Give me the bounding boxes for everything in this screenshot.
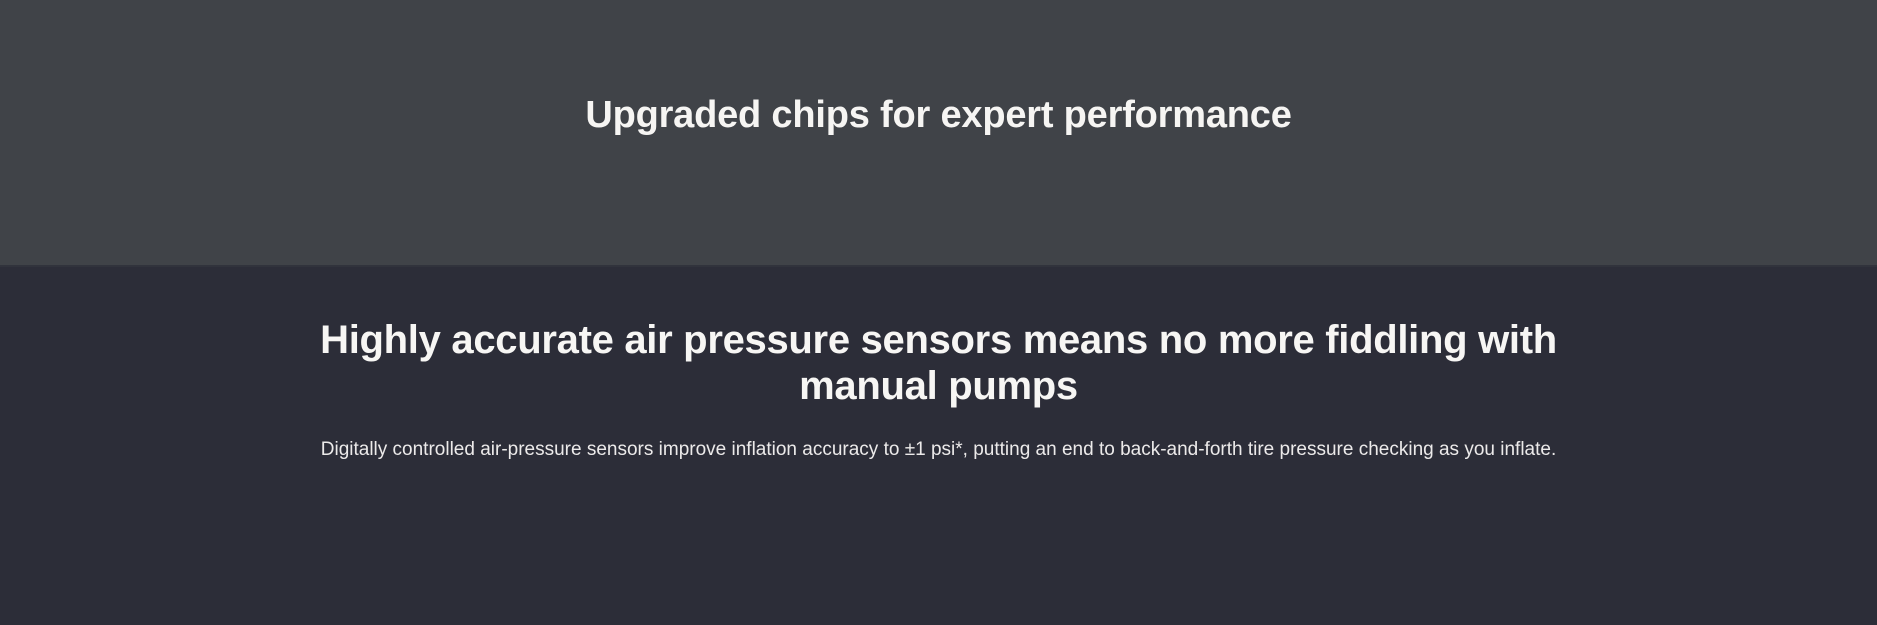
section-air-pressure-sensors: Highly accurate air pressure sensors mea… <box>0 265 1877 625</box>
marketing-feature-page: Upgraded chips for expert performance Hi… <box>0 0 1877 625</box>
section-upgraded-chips: Upgraded chips for expert performance <box>0 0 1877 265</box>
section-description: Digitally controlled air-pressure sensor… <box>284 410 1594 464</box>
upgraded-chips-content: Upgraded chips for expert performance <box>169 0 1709 140</box>
section-heading: Highly accurate air pressure sensors mea… <box>284 265 1594 410</box>
page-title: Upgraded chips for expert performance <box>209 0 1669 140</box>
air-pressure-sensors-content: Highly accurate air pressure sensors mea… <box>274 265 1604 464</box>
